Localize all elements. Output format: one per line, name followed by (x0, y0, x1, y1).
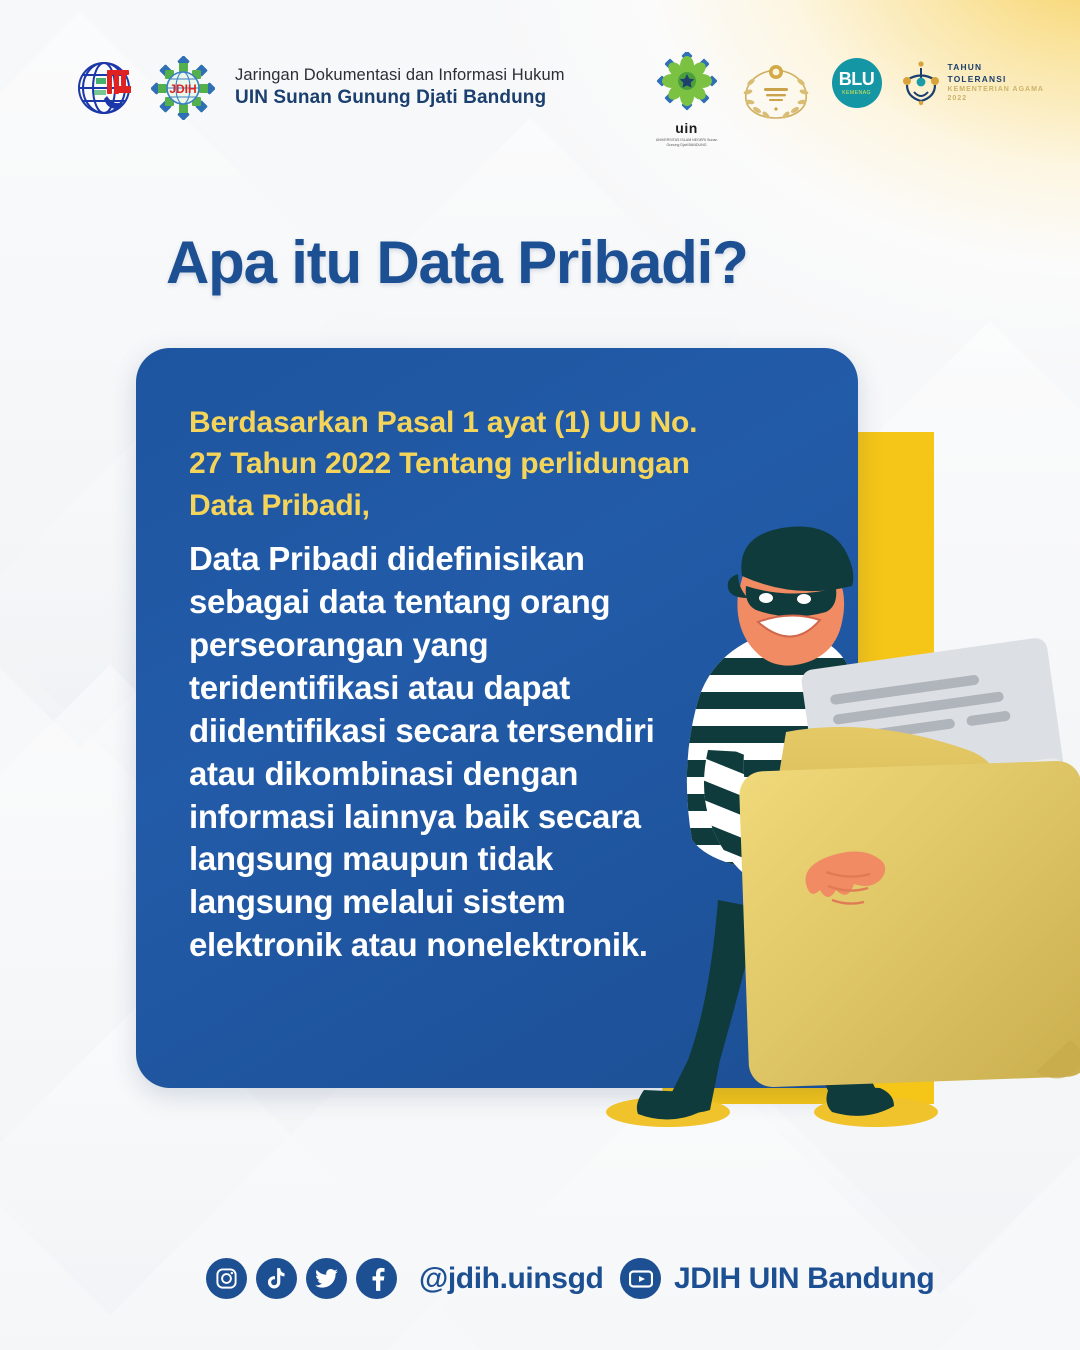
tahun-toleransi-logo: TAHUN TOLERANSI KEMENTERIAN AGAMA 2022 (900, 60, 1044, 106)
uin-subcaption: UNIVERSITAS ISLAM NEGERI Sunan Gunung Dj… (654, 138, 720, 149)
jdih-star-logo: JDIH (151, 56, 215, 120)
toleransi-line-1: TAHUN (948, 62, 1044, 73)
instagram-icon[interactable] (206, 1258, 247, 1299)
blu-logo: BLU KEMENAG (832, 52, 882, 108)
footer: @jdih.uinsgd JDIH UIN Bandung (0, 1258, 1080, 1324)
tiktok-icon[interactable] (256, 1258, 297, 1299)
blu-sublabel: KEMENAG (842, 90, 871, 96)
facebook-icon[interactable] (356, 1258, 397, 1299)
brand-line-1: Jaringan Dokumentasi dan Informasi Hukum (235, 65, 565, 86)
brand-text: Jaringan Dokumentasi dan Informasi Hukum… (235, 65, 565, 110)
twitter-icon[interactable] (306, 1258, 347, 1299)
uin-caption: uin (654, 120, 720, 136)
youtube-link[interactable]: JDIH UIN Bandung (620, 1258, 934, 1299)
thief-stealing-data-folder-illustration (600, 520, 1080, 1160)
blu-label: BLU (839, 70, 875, 88)
page-title: Apa itu Data Pribadi? (166, 233, 748, 293)
social-links: @jdih.uinsgd (206, 1258, 603, 1299)
toleransi-line-3: KEMENTERIAN AGAMA (948, 85, 1044, 94)
social-handle: @jdih.uinsgd (419, 1262, 603, 1296)
legal-reference-text: Berdasarkan Pasal 1 ayat (1) UU No. 27 T… (189, 402, 699, 526)
youtube-label: JDIH UIN Bandung (674, 1262, 934, 1296)
toleransi-line-2: TOLERANSI (948, 74, 1044, 85)
svg-text:JDIH: JDIH (169, 82, 196, 96)
brand-line-2: UIN Sunan Gunung Djati Bandung (235, 86, 565, 111)
toleransi-line-4: 2022 (948, 94, 1044, 103)
wreath-award-logo (738, 60, 814, 127)
header: JDIH Jaringan Dokumentasi dan Informasi … (0, 0, 1080, 150)
uin-logo: uin UNIVERSITAS ISLAM NEGERI Sunan Gunun… (654, 52, 720, 149)
jdih-globe-logo (74, 56, 140, 120)
infographic-poster: JDIH Jaringan Dokumentasi dan Informasi … (0, 0, 1080, 1350)
partner-logos: uin UNIVERSITAS ISLAM NEGERI Sunan Gunun… (654, 52, 1044, 149)
brand-block: JDIH Jaringan Dokumentasi dan Informasi … (74, 56, 565, 120)
youtube-icon[interactable] (620, 1258, 661, 1299)
